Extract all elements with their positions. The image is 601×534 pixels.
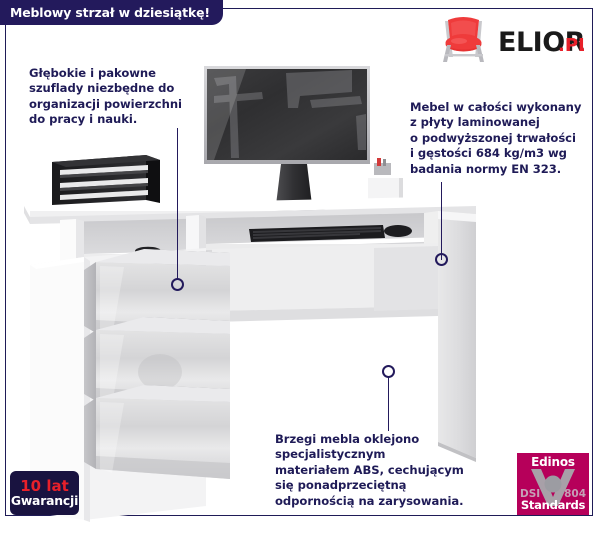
logo-wordmark: ELIOR .PL — [498, 27, 584, 58]
callout-drawers-leader-line — [177, 128, 178, 279]
callout-board-line-5: badania normy EN 323. — [410, 162, 581, 177]
edinos-standards-label: Standards — [517, 498, 589, 512]
drawer-bottom-graphic — [84, 385, 230, 479]
elior-logo[interactable]: ELIOR .PL — [432, 11, 584, 67]
callout-abs-line-2: specjalistycznym — [275, 447, 464, 462]
callout-drawers-line-4: do pracy i nauki. — [29, 112, 182, 127]
callout-abs-line-5: odpornością na zarysowania. — [275, 494, 464, 509]
headline-banner: Meblowy strzał w dziesiątkę! — [0, 0, 223, 25]
callout-drawers-line-3: organizacji powierzchni — [29, 97, 182, 112]
callout-drawers-line-1: Głębokie i pakowne — [29, 66, 182, 81]
callout-board-line-4: i gęstości 684 kg/m3 wg — [410, 146, 581, 161]
callout-board-marker — [435, 253, 448, 266]
callout-board-line-2: z płyty laminowanej — [410, 115, 581, 130]
callout-abs-line-4: się ponadprzeciętną — [275, 478, 464, 493]
callout-abs-line-3: materiałem ABS, cechującym — [275, 463, 464, 478]
warranty-label: Gwarancji — [11, 494, 78, 508]
callout-board-line-3: o podwyższonej trwałości — [410, 131, 581, 146]
edinos-title: Edinos — [517, 455, 589, 469]
warranty-years: 10 lat — [20, 478, 69, 494]
callout-drawers-marker — [171, 278, 184, 291]
warranty-badge: 10 lat Gwarancji — [10, 471, 79, 515]
svg-text:.PL: .PL — [558, 35, 584, 56]
monitor-graphic — [204, 66, 370, 211]
desk-right-panel-graphic — [438, 211, 476, 462]
desk-drawers-graphic — [84, 249, 230, 479]
headline-text: Meblowy strzał w dziesiątkę! — [10, 5, 210, 20]
callout-abs-marker — [382, 365, 395, 378]
callout-abs-edges: Brzegi mebla oklejono specjalistycznym m… — [275, 432, 464, 509]
desk-apron-graphic — [212, 243, 438, 322]
callout-board-line-1: Mebel w całości wykonany — [410, 100, 581, 115]
product-info-page: Meblowy strzał w dziesiątkę! E — [0, 0, 601, 534]
callout-abs-leader-line — [388, 377, 389, 431]
callout-drawers-line-2: szuflady niezbędne do — [29, 81, 182, 96]
callout-abs-line-1: Brzegi mebla oklejono — [275, 432, 464, 447]
callout-board: Mebel w całości wykonany z płyty laminow… — [410, 100, 581, 177]
callout-board-leader-line — [441, 182, 442, 260]
callout-drawers: Głębokie i pakowne szuflady niezbędne do… — [29, 66, 182, 128]
edinos-standards-badge: Edinos DSI 804 Standards — [517, 453, 589, 515]
document-tray-graphic — [52, 155, 160, 205]
chair-icon — [443, 17, 484, 62]
